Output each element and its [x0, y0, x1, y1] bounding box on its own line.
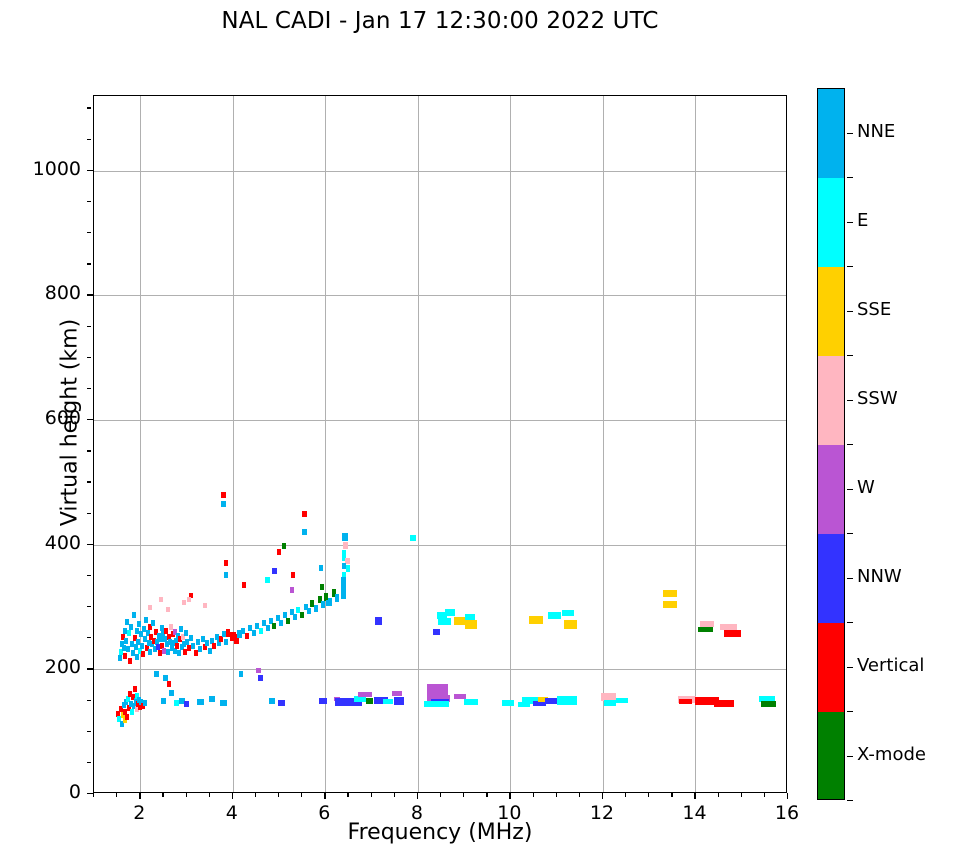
x-tick-major: [602, 793, 603, 799]
echo-mark: [321, 601, 325, 608]
echo-mark: [278, 700, 284, 706]
echo-mark: [127, 630, 131, 636]
echo-mark: [135, 654, 139, 660]
colorbar-tick: [847, 578, 853, 579]
y-tick-minor: [87, 513, 91, 514]
echo-mark: [265, 577, 269, 583]
echo-mark: [283, 612, 287, 618]
colorbar-segment-vertical: [818, 623, 844, 712]
y-tick-major: [87, 793, 93, 794]
y-tick-major: [87, 544, 93, 545]
echo-mark: [562, 610, 574, 616]
echo-mark: [433, 629, 439, 635]
echo-mark: [143, 700, 147, 706]
echo-mark: [169, 690, 174, 696]
x-tick-major: [139, 793, 140, 799]
colorbar-segment-nnw: [818, 534, 844, 623]
echo-mark: [189, 635, 193, 641]
echo-mark: [290, 587, 294, 593]
echo-mark: [224, 639, 228, 645]
echo-mark: [201, 636, 205, 642]
x-tick-minor: [116, 793, 117, 797]
echo-mark: [342, 533, 348, 541]
echo-mark: [194, 650, 198, 656]
echo-mark: [187, 597, 191, 602]
y-tick-major: [87, 170, 93, 171]
colorbar-segment-nne: [818, 89, 844, 178]
colorbar-boundary-tick: [847, 444, 853, 445]
x-tick-minor: [718, 793, 719, 797]
echo-mark: [187, 645, 191, 651]
echo-mark: [293, 614, 297, 620]
echo-mark: [131, 650, 135, 656]
x-tick-minor: [648, 793, 649, 797]
echo-mark: [604, 700, 616, 706]
echo-mark: [164, 628, 168, 634]
echo-mark: [182, 600, 186, 605]
echo-mark: [123, 628, 127, 634]
echo-mark: [300, 612, 304, 618]
echo-mark: [123, 653, 127, 659]
colorbar-boundary-tick: [847, 355, 853, 356]
echo-mark: [205, 640, 209, 646]
echo-mark: [185, 639, 189, 645]
colorbar-segment-sse: [818, 267, 844, 356]
y-tick-minor: [87, 762, 91, 763]
echo-mark: [358, 692, 372, 697]
colorbar-segment-x-mode: [818, 712, 844, 800]
colorbar-label-w: W: [857, 477, 875, 498]
echo-mark: [445, 609, 455, 616]
colorbar-tick: [847, 222, 853, 223]
echo-mark: [125, 714, 129, 720]
colorbar-tick: [847, 311, 853, 312]
y-tick-minor: [87, 357, 91, 358]
colorbar-label-ssw: SSW: [857, 388, 898, 409]
echo-mark: [394, 697, 404, 705]
echo-mark: [118, 655, 122, 661]
echo-mark: [160, 625, 164, 631]
echo-mark: [319, 698, 326, 704]
echo-mark: [335, 594, 339, 602]
echo-mark: [177, 650, 181, 656]
y-tick-minor: [87, 107, 91, 108]
y-tick-label: 1000: [11, 158, 81, 180]
x-tick-minor: [255, 793, 256, 797]
echo-mark: [307, 608, 311, 614]
echo-mark: [663, 601, 677, 608]
echo-mark: [761, 701, 777, 707]
colorbar-tick: [847, 667, 853, 668]
colorbar-tick: [847, 489, 853, 490]
x-tick-minor: [186, 793, 187, 797]
x-tick-minor: [301, 793, 302, 797]
y-tick-minor: [87, 232, 91, 233]
echo-mark: [179, 626, 183, 632]
echo-mark: [175, 643, 179, 649]
echo-mark: [203, 603, 207, 608]
echo-mark: [277, 549, 281, 555]
echo-mark: [212, 643, 216, 649]
echo-mark: [302, 511, 306, 517]
echo-mark: [564, 620, 578, 629]
echo-mark: [464, 699, 478, 705]
x-tick-minor: [625, 793, 626, 797]
echo-mark: [144, 617, 148, 623]
echo-mark: [256, 668, 261, 673]
echo-mark: [272, 568, 276, 574]
echo-mark: [383, 699, 393, 704]
echo-mark: [163, 675, 168, 681]
plot-area: [93, 95, 787, 793]
colorbar-boundary-tick: [847, 533, 853, 534]
x-tick-minor: [533, 793, 534, 797]
echo-mark: [245, 633, 249, 639]
y-tick-minor: [87, 326, 91, 327]
colorbar: [817, 88, 845, 800]
y-tick-minor: [87, 637, 91, 638]
echo-mark: [346, 565, 351, 572]
echo-mark: [269, 698, 275, 704]
echo-mark: [221, 492, 225, 498]
x-tick-major: [694, 793, 695, 799]
echo-mark: [272, 623, 276, 629]
echo-mark: [132, 612, 136, 618]
x-tick-minor: [741, 793, 742, 797]
x-tick-minor: [394, 793, 395, 797]
echo-mark: [156, 644, 160, 650]
x-tick-minor: [463, 793, 464, 797]
x-tick-minor: [440, 793, 441, 797]
echo-mark: [410, 535, 416, 541]
echo-mark: [151, 620, 155, 626]
y-tick-minor: [87, 700, 91, 701]
x-axis-label: Frequency (MHz): [93, 820, 787, 845]
echo-mark: [341, 577, 346, 583]
y-tick-minor: [87, 481, 91, 482]
echo-mark: [215, 634, 219, 640]
echo-mark: [545, 698, 557, 704]
x-tick-minor: [486, 793, 487, 797]
echo-mark: [166, 607, 170, 612]
echo-mark: [133, 686, 137, 692]
echo-mark: [129, 624, 133, 630]
x-tick-minor: [93, 793, 94, 797]
echo-mark: [196, 639, 200, 645]
echo-mark: [314, 605, 318, 612]
echo-mark: [148, 649, 152, 655]
echo-mark: [209, 696, 215, 702]
y-tick-minor: [87, 575, 91, 576]
ionogram-figure: NAL CADI - Jan 17 12:30:00 2022 UTC 2468…: [0, 0, 958, 857]
echo-mark: [279, 620, 283, 626]
echo-mark: [663, 590, 677, 597]
echo-mark: [184, 630, 188, 636]
echo-mark: [326, 600, 330, 606]
echo-mark: [518, 702, 530, 707]
echo-mark: [224, 572, 228, 578]
echo-mark: [198, 646, 202, 652]
x-tick-minor: [278, 793, 279, 797]
echo-mark: [724, 630, 741, 637]
y-tick-minor: [87, 201, 91, 202]
echo-mark: [167, 681, 171, 687]
colorbar-label-nnw: NNW: [857, 566, 902, 587]
echo-mark: [320, 584, 324, 590]
y-tick-minor: [87, 450, 91, 451]
echo-mark: [124, 638, 128, 644]
echo-mark: [291, 572, 295, 578]
y-tick-minor: [87, 606, 91, 607]
colorbar-boundary-tick: [847, 177, 853, 178]
echo-mark: [392, 691, 402, 696]
colorbar-label-sse: SSE: [857, 299, 891, 320]
colorbar-segment-e: [818, 178, 844, 267]
echo-mark: [424, 701, 449, 707]
echo-mark: [137, 621, 141, 627]
y-tick-minor: [87, 731, 91, 732]
x-tick-major: [232, 793, 233, 799]
y-axis-label: Virtual height (km): [58, 223, 83, 623]
echo-mark: [698, 627, 714, 632]
colorbar-tick: [847, 400, 853, 401]
echo-mark: [239, 671, 244, 677]
colorbar-label-vertical: Vertical: [857, 655, 924, 676]
x-tick-minor: [162, 793, 163, 797]
echo-mark: [302, 529, 306, 535]
colorbar-tick: [847, 756, 853, 757]
echo-mark: [354, 696, 365, 702]
colorbar-label-x-mode: X-mode: [857, 744, 926, 765]
echo-mark: [140, 643, 144, 649]
x-tick-minor: [347, 793, 348, 797]
y-tick-major: [87, 419, 93, 420]
echo-mark: [208, 648, 212, 654]
echo-mark: [366, 698, 373, 704]
echo-mark: [191, 643, 195, 649]
x-tick-minor: [764, 793, 765, 797]
x-tick-major: [324, 793, 325, 799]
echo-mark: [714, 700, 733, 707]
y-tick-minor: [87, 263, 91, 264]
x-tick-major: [787, 793, 788, 799]
echo-mark: [122, 645, 126, 651]
x-tick-minor: [579, 793, 580, 797]
echo-mark: [266, 625, 270, 631]
x-tick-minor: [556, 793, 557, 797]
echo-mark: [184, 701, 190, 707]
echo-mark: [529, 616, 543, 624]
y-tick-label: 200: [11, 656, 81, 678]
colorbar-segment-w: [818, 445, 844, 534]
echo-mark: [258, 675, 264, 681]
x-tick-minor: [671, 793, 672, 797]
echo-mark: [159, 597, 163, 602]
echo-scatter-layer: [94, 96, 786, 792]
echo-mark: [135, 628, 139, 634]
echo-mark: [616, 698, 628, 703]
colorbar-boundary-tick: [847, 266, 853, 267]
echo-mark: [282, 543, 286, 549]
colorbar-boundary-tick: [847, 622, 853, 623]
colorbar-label-e: E: [857, 210, 868, 231]
echo-mark: [128, 658, 132, 664]
colorbar-boundary-tick: [847, 800, 853, 801]
y-tick-label: 0: [11, 781, 81, 803]
echo-mark: [343, 542, 349, 549]
x-tick-minor: [209, 793, 210, 797]
echo-mark: [252, 630, 256, 636]
echo-mark: [465, 620, 477, 629]
echo-mark: [154, 671, 159, 677]
colorbar-boundary-tick: [847, 711, 853, 712]
y-tick-major: [87, 294, 93, 295]
echo-mark: [220, 700, 226, 706]
echo-mark: [319, 565, 323, 571]
y-tick-minor: [87, 388, 91, 389]
colorbar-tick: [847, 133, 853, 134]
echo-mark: [557, 696, 576, 705]
x-tick-major: [417, 793, 418, 799]
page-title: NAL CADI - Jan 17 12:30:00 2022 UTC: [0, 8, 880, 34]
echo-mark: [148, 605, 152, 610]
echo-mark: [438, 618, 451, 625]
echo-mark: [169, 624, 173, 630]
colorbar-segment-ssw: [818, 356, 844, 445]
colorbar-label-nne: NNE: [857, 121, 895, 142]
echo-mark: [502, 700, 514, 706]
echo-mark: [679, 699, 692, 704]
echo-mark: [221, 501, 225, 507]
echo-mark: [341, 583, 346, 599]
echo-mark: [286, 618, 290, 624]
y-tick-minor: [87, 139, 91, 140]
echo-mark: [224, 560, 228, 566]
echo-mark: [375, 617, 381, 625]
y-tick-major: [87, 668, 93, 669]
echo-mark: [161, 698, 166, 704]
echo-mark: [158, 650, 162, 656]
echo-mark: [259, 628, 263, 634]
echo-mark: [548, 612, 561, 619]
echo-mark: [130, 709, 134, 715]
echo-mark: [141, 651, 145, 657]
echo-mark: [197, 699, 203, 705]
echo-mark: [242, 582, 246, 588]
x-tick-major: [509, 793, 510, 799]
x-tick-minor: [371, 793, 372, 797]
